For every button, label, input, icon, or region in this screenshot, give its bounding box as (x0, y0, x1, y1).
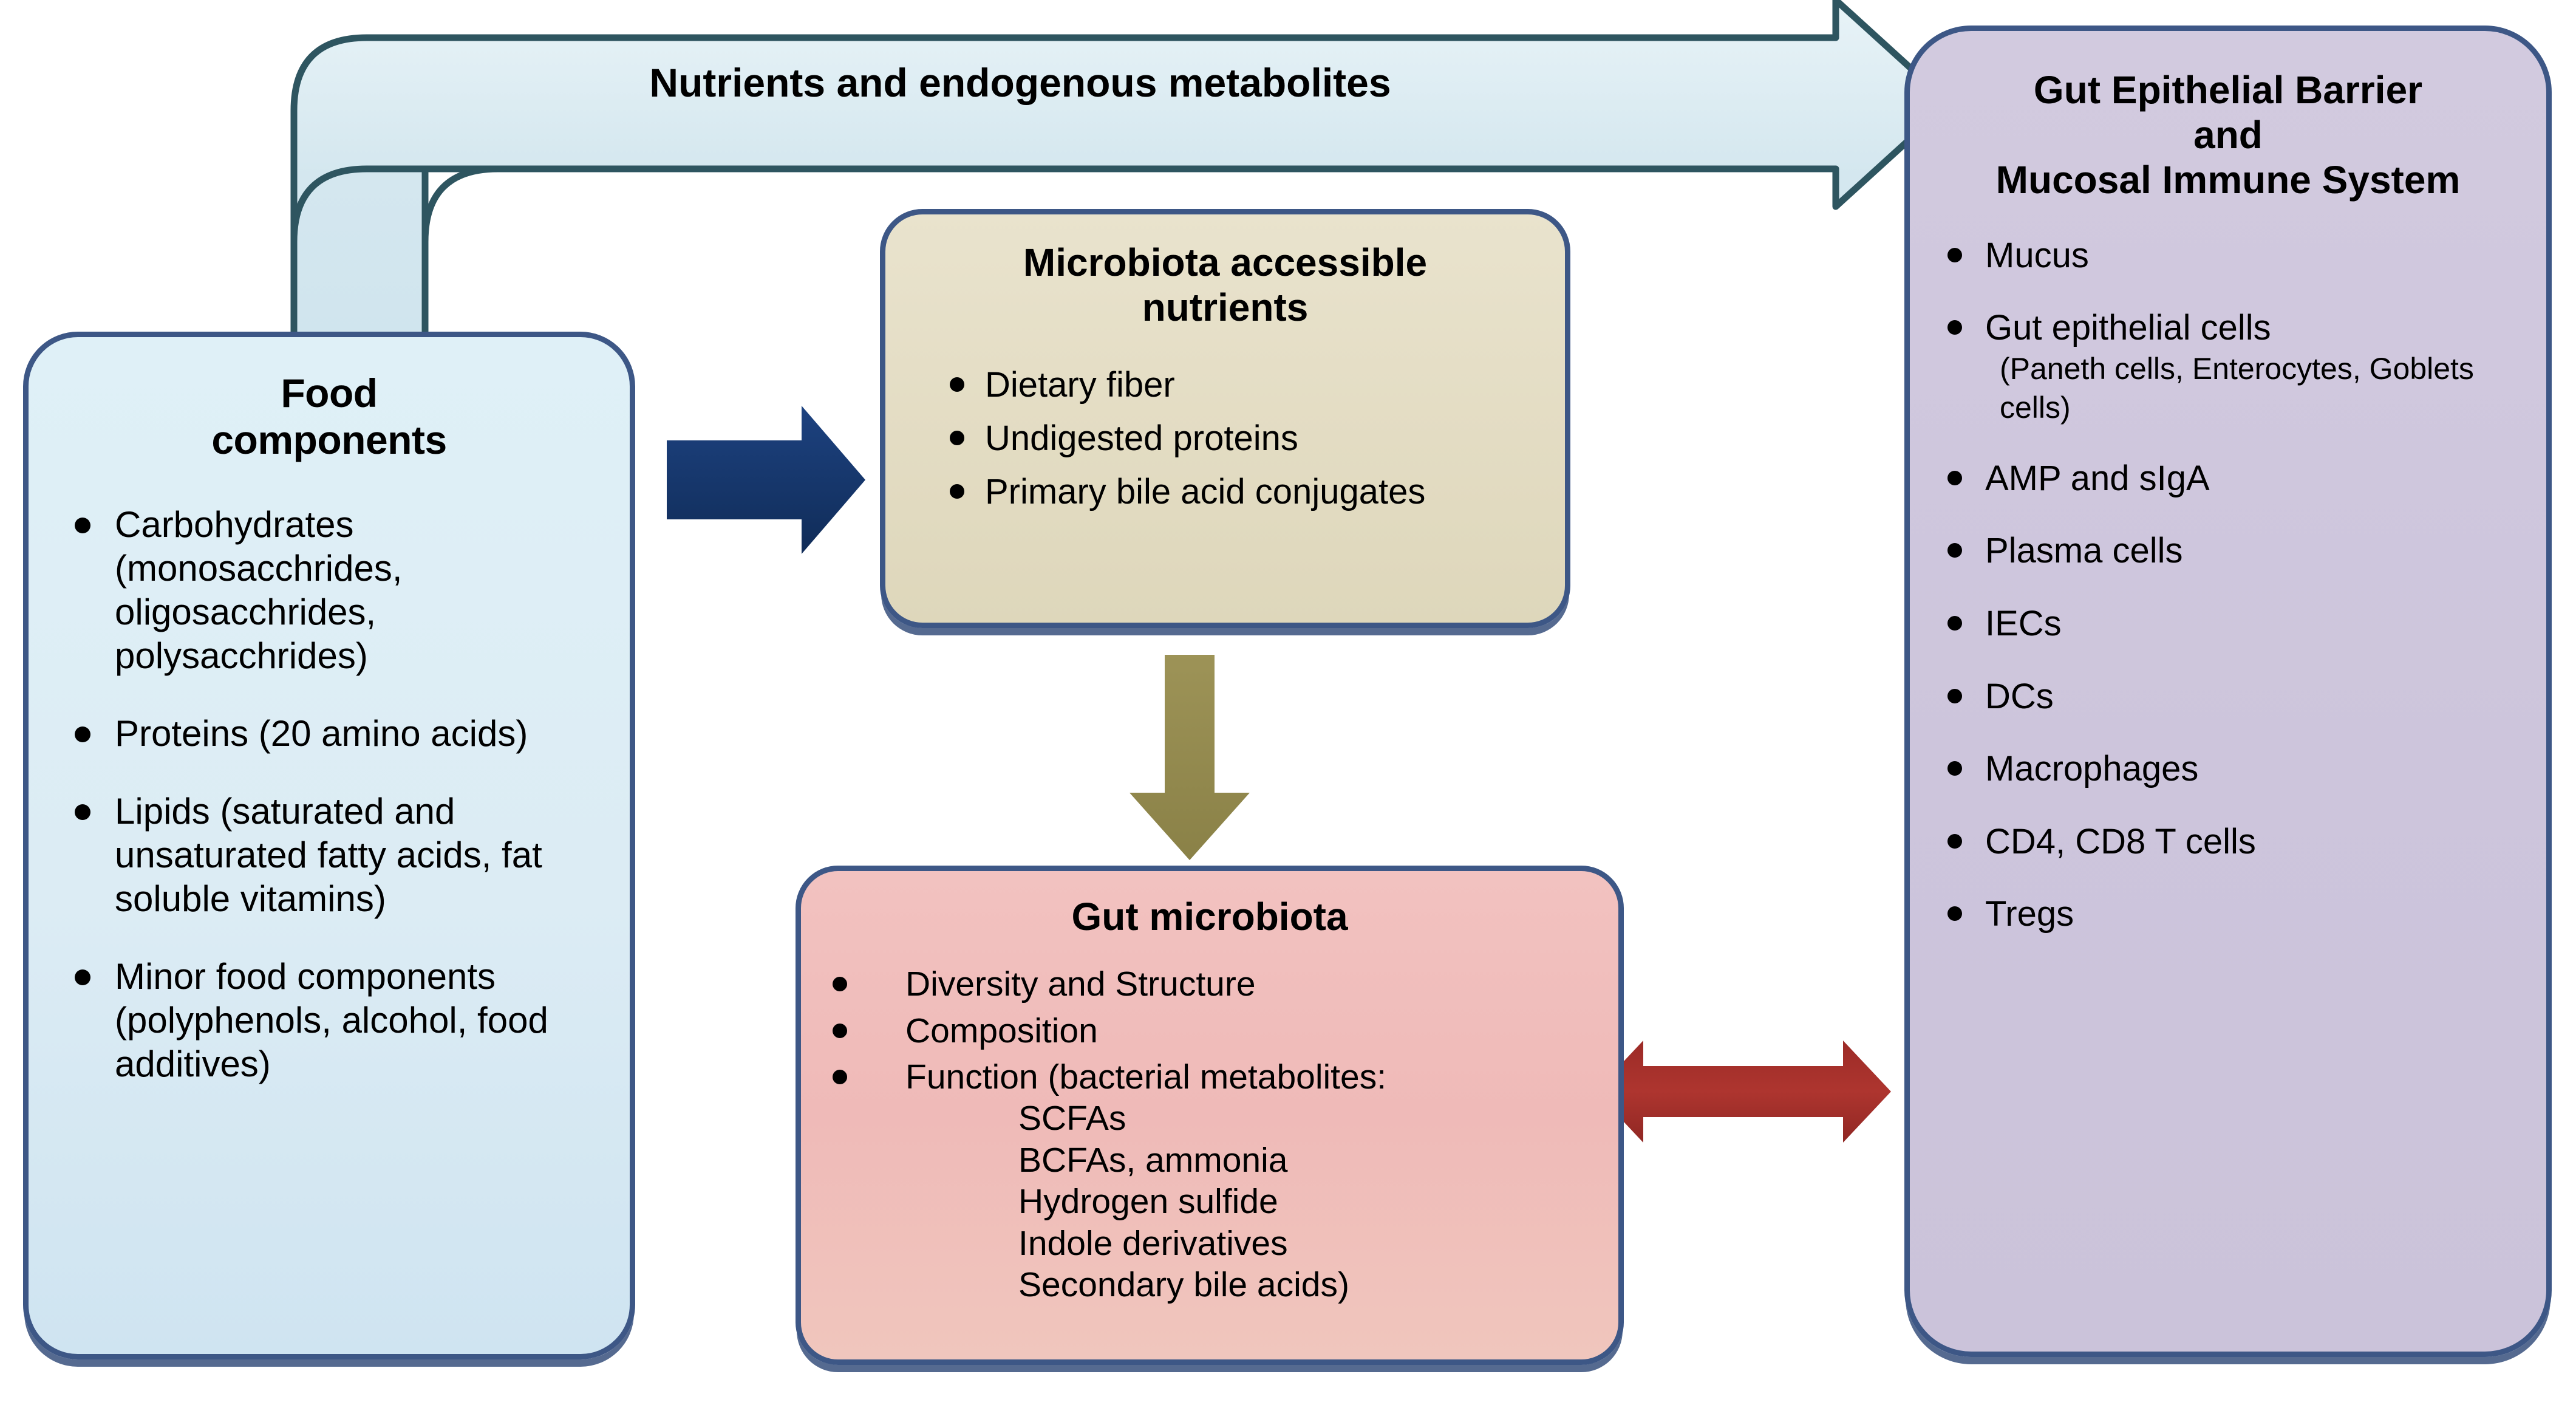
arrow-left-right-icon (1595, 1041, 1891, 1143)
bullet-dot-icon (1947, 834, 1962, 849)
list-item: DCs (1947, 675, 2546, 718)
bullet-dot-icon (75, 969, 90, 985)
arrow-right-icon (667, 406, 865, 554)
list-item-label: Lipids (saturated and unsaturated fatty … (115, 791, 542, 919)
bullet-dot-icon (1947, 543, 1962, 558)
list-item-label: Gut epithelial cells (1985, 308, 2271, 347)
bullet-dot-icon (1947, 616, 1962, 631)
list-item: Undigested proteins (950, 417, 1565, 460)
list-item: AMP and sIgA (1947, 457, 2546, 500)
list-item: Tregs (1947, 893, 2546, 935)
list-item-label: Composition (905, 1011, 1098, 1050)
bullet-dot-icon (1947, 689, 1962, 703)
geb-title-line2: and (2193, 113, 2263, 157)
food-components-panel: Food components Carbohydrates (monosacch… (23, 332, 635, 1359)
bullet-dot-icon (833, 1024, 847, 1038)
list-item: Proteins (20 amino acids) (75, 712, 609, 756)
list-item: Function (bacterial metabolites: SCFAs B… (833, 1056, 1618, 1305)
list-item-label: Undigested proteins (985, 419, 1298, 458)
man-title-line2: nutrients (1142, 285, 1309, 329)
gut-microbiota-panel: Gut microbiota Diversity and Structure C… (796, 866, 1624, 1365)
metabolite-line: Hydrogen sulfide (905, 1181, 1618, 1222)
list-item: CD4, CD8 T cells (1947, 821, 2546, 863)
microbiota-accessible-nutrients-panel: Microbiota accessible nutrients Dietary … (880, 209, 1570, 628)
bullet-dot-icon (950, 484, 964, 499)
bullet-dot-icon (1947, 320, 1962, 335)
list-item-label: Dietary fiber (985, 365, 1175, 405)
list-item-label: Primary bile acid conjugates (985, 472, 1425, 511)
microbiota-accessible-nutrients-title: Microbiota accessible nutrients (912, 240, 1538, 330)
food-components-title: Food components (29, 370, 630, 463)
list-item: Plasma cells (1947, 530, 2546, 572)
gut-epithelial-barrier-panel: Gut Epithelial Barrier and Mucosal Immun… (1904, 26, 2552, 1357)
list-item: Macrophages (1947, 748, 2546, 790)
bullet-dot-icon (75, 726, 90, 742)
bullet-dot-icon (75, 518, 90, 533)
list-item: Gut epithelial cells (Paneth cells, Ente… (1947, 307, 2546, 427)
list-item: Minor food components (polyphenols, alco… (75, 955, 609, 1086)
list-item: Lipids (saturated and unsaturated fatty … (75, 790, 609, 921)
food-components-list: Carbohydrates (monosacchrides, oligosacc… (29, 503, 630, 1086)
geb-title-line1: Gut Epithelial Barrier (2034, 68, 2422, 112)
geb-title-line3: Mucosal Immune System (1996, 158, 2461, 202)
bullet-dot-icon (950, 431, 964, 445)
list-item: IECs (1947, 603, 2546, 645)
list-item-label: Mucus (1985, 236, 2089, 275)
food-components-title-line1: Food (281, 371, 377, 415)
list-item-label: AMP and sIgA (1985, 459, 2210, 498)
list-item: Composition (833, 1010, 1618, 1051)
bullet-dot-icon (1947, 906, 1962, 921)
list-item: Dietary fiber (950, 364, 1565, 406)
list-item-label: DCs (1985, 677, 2054, 716)
bullet-dot-icon (833, 977, 847, 991)
list-item-label: Macrophages (1985, 749, 2198, 788)
gut-epithelial-barrier-title: Gut Epithelial Barrier and Mucosal Immun… (1923, 67, 2533, 203)
man-title-line1: Microbiota accessible (1023, 241, 1427, 284)
diagram-canvas: Nutrients and endogenous metabolites Foo… (0, 0, 2576, 1405)
gut-epithelial-barrier-list: Mucus Gut epithelial cells (Paneth cells… (1910, 234, 2546, 935)
list-item-label: Carbohydrates (monosacchrides, oligosacc… (115, 504, 403, 676)
list-item-label: Proteins (20 amino acids) (115, 713, 528, 754)
list-item: Diversity and Structure (833, 963, 1618, 1005)
list-item-label: Diversity and Structure (905, 965, 1256, 1003)
arrow-down-icon (1130, 655, 1250, 860)
bullet-dot-icon (833, 1070, 847, 1084)
list-item-label: Tregs (1985, 894, 2074, 934)
list-item: Mucus (1947, 234, 2546, 277)
metabolite-line: Secondary bile acids) (905, 1264, 1618, 1305)
list-item: Primary bile acid conjugates (950, 471, 1565, 513)
bullet-dot-icon (75, 804, 90, 820)
list-item-label: CD4, CD8 T cells (1985, 822, 2256, 861)
metabolite-line: BCFAs, ammonia (905, 1140, 1618, 1181)
elbow-arrow-label: Nutrients and endogenous metabolites (522, 60, 1518, 106)
bullet-dot-icon (1947, 761, 1962, 776)
bullet-dot-icon (1947, 471, 1962, 485)
list-item-label: Minor food components (polyphenols, alco… (115, 956, 548, 1084)
metabolite-line: SCFAs (905, 1098, 1618, 1139)
list-item-label: IECs (1985, 604, 2062, 643)
metabolite-line: Indole derivatives (905, 1223, 1618, 1264)
bullet-dot-icon (1947, 248, 1962, 262)
list-item-label: Function (bacterial metabolites: (905, 1058, 1386, 1096)
list-item-sublabel: (Paneth cells, Enterocytes, Goblets cell… (1985, 349, 2546, 427)
gut-microbiota-title: Gut microbiota (801, 894, 1618, 939)
food-components-title-line2: components (211, 417, 446, 462)
list-item: Carbohydrates (monosacchrides, oligosacc… (75, 503, 609, 678)
bullet-dot-icon (950, 377, 964, 392)
microbiota-accessible-nutrients-list: Dietary fiber Undigested proteins Primar… (885, 364, 1565, 513)
gut-microbiota-list: Diversity and Structure Composition Func… (801, 963, 1618, 1305)
list-item-label: Plasma cells (1985, 531, 2183, 570)
